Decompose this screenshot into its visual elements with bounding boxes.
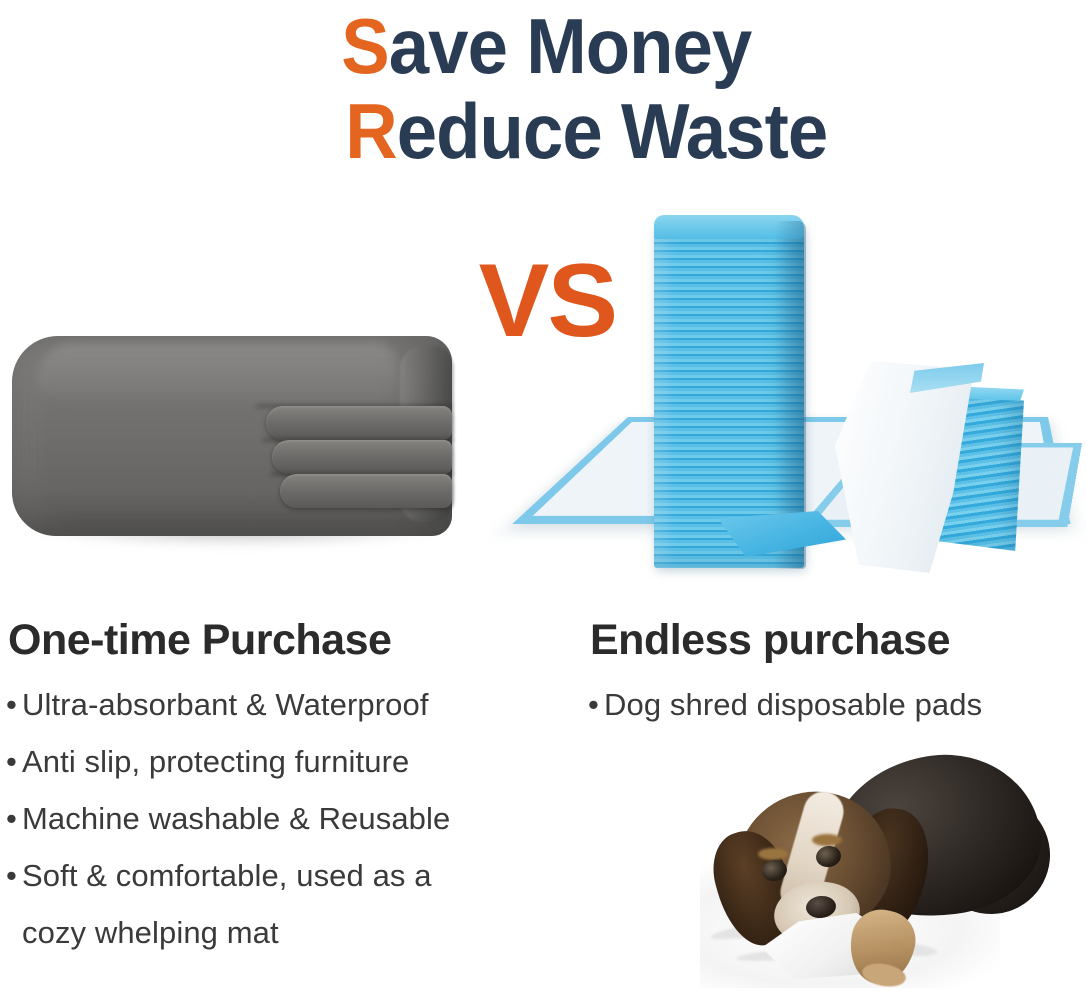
headline-accent-s: S (341, 2, 388, 90)
list-item: • Ultra-absorbant & Waterproof (6, 676, 566, 733)
headline-accent-r: R (345, 87, 396, 175)
list-item-label: Ultra-absorbant & Waterproof (22, 676, 429, 733)
list-item-label: Dog shred disposable pads (604, 676, 982, 733)
list-item: • Soft & comfortable, used as a (6, 847, 566, 904)
right-column-heading: Endless purchase (590, 616, 950, 664)
list-item: • Anti slip, protecting furniture (6, 733, 566, 790)
vs-label: VS (479, 249, 616, 353)
bullet-dot-icon: • (6, 847, 22, 904)
list-item-label-wrap: cozy whelping mat (6, 904, 279, 961)
infographic-canvas: Save Money Reduce Waste VS One-time Purc… (0, 0, 1087, 991)
puppy-brow (812, 834, 842, 846)
blanket-product-image (4, 330, 464, 575)
blanket-fold (266, 406, 452, 440)
list-item: • Machine washable & Reusable (6, 790, 566, 847)
bullet-dot-icon: • (6, 676, 22, 733)
list-item-label: Anti slip, protecting furniture (22, 733, 409, 790)
list-item-label: Soft & comfortable, used as a (22, 847, 432, 904)
bullet-dot-icon: • (6, 790, 22, 847)
headline-line-2: Reduce Waste (38, 89, 1049, 174)
list-item: • Dog shred disposable pads (588, 676, 1078, 733)
bullet-dot-icon: • (588, 676, 604, 733)
headline-line-1: Save Money (38, 4, 1049, 89)
left-column-bullets: • Ultra-absorbant & Waterproof • Anti sl… (6, 676, 566, 961)
puppy-pads-product-image (614, 205, 1087, 580)
bullet-dot-icon: • (6, 733, 22, 790)
headline-line-2-rest: educe Waste (397, 87, 828, 175)
right-column-bullets: • Dog shred disposable pads (588, 676, 1078, 733)
headline-line-1-rest: ave Money (389, 2, 752, 90)
blanket-fold (280, 474, 452, 508)
puppy-brow (758, 848, 788, 860)
list-item-continuation: cozy whelping mat (6, 904, 566, 961)
left-column-heading: One-time Purchase (8, 616, 391, 664)
blanket-highlight (38, 342, 398, 408)
puppy-photo (700, 742, 1080, 990)
headline-block: Save Money Reduce Waste (0, 4, 1087, 174)
blanket-fold (272, 440, 452, 474)
list-item-label: Machine washable & Reusable (22, 790, 450, 847)
